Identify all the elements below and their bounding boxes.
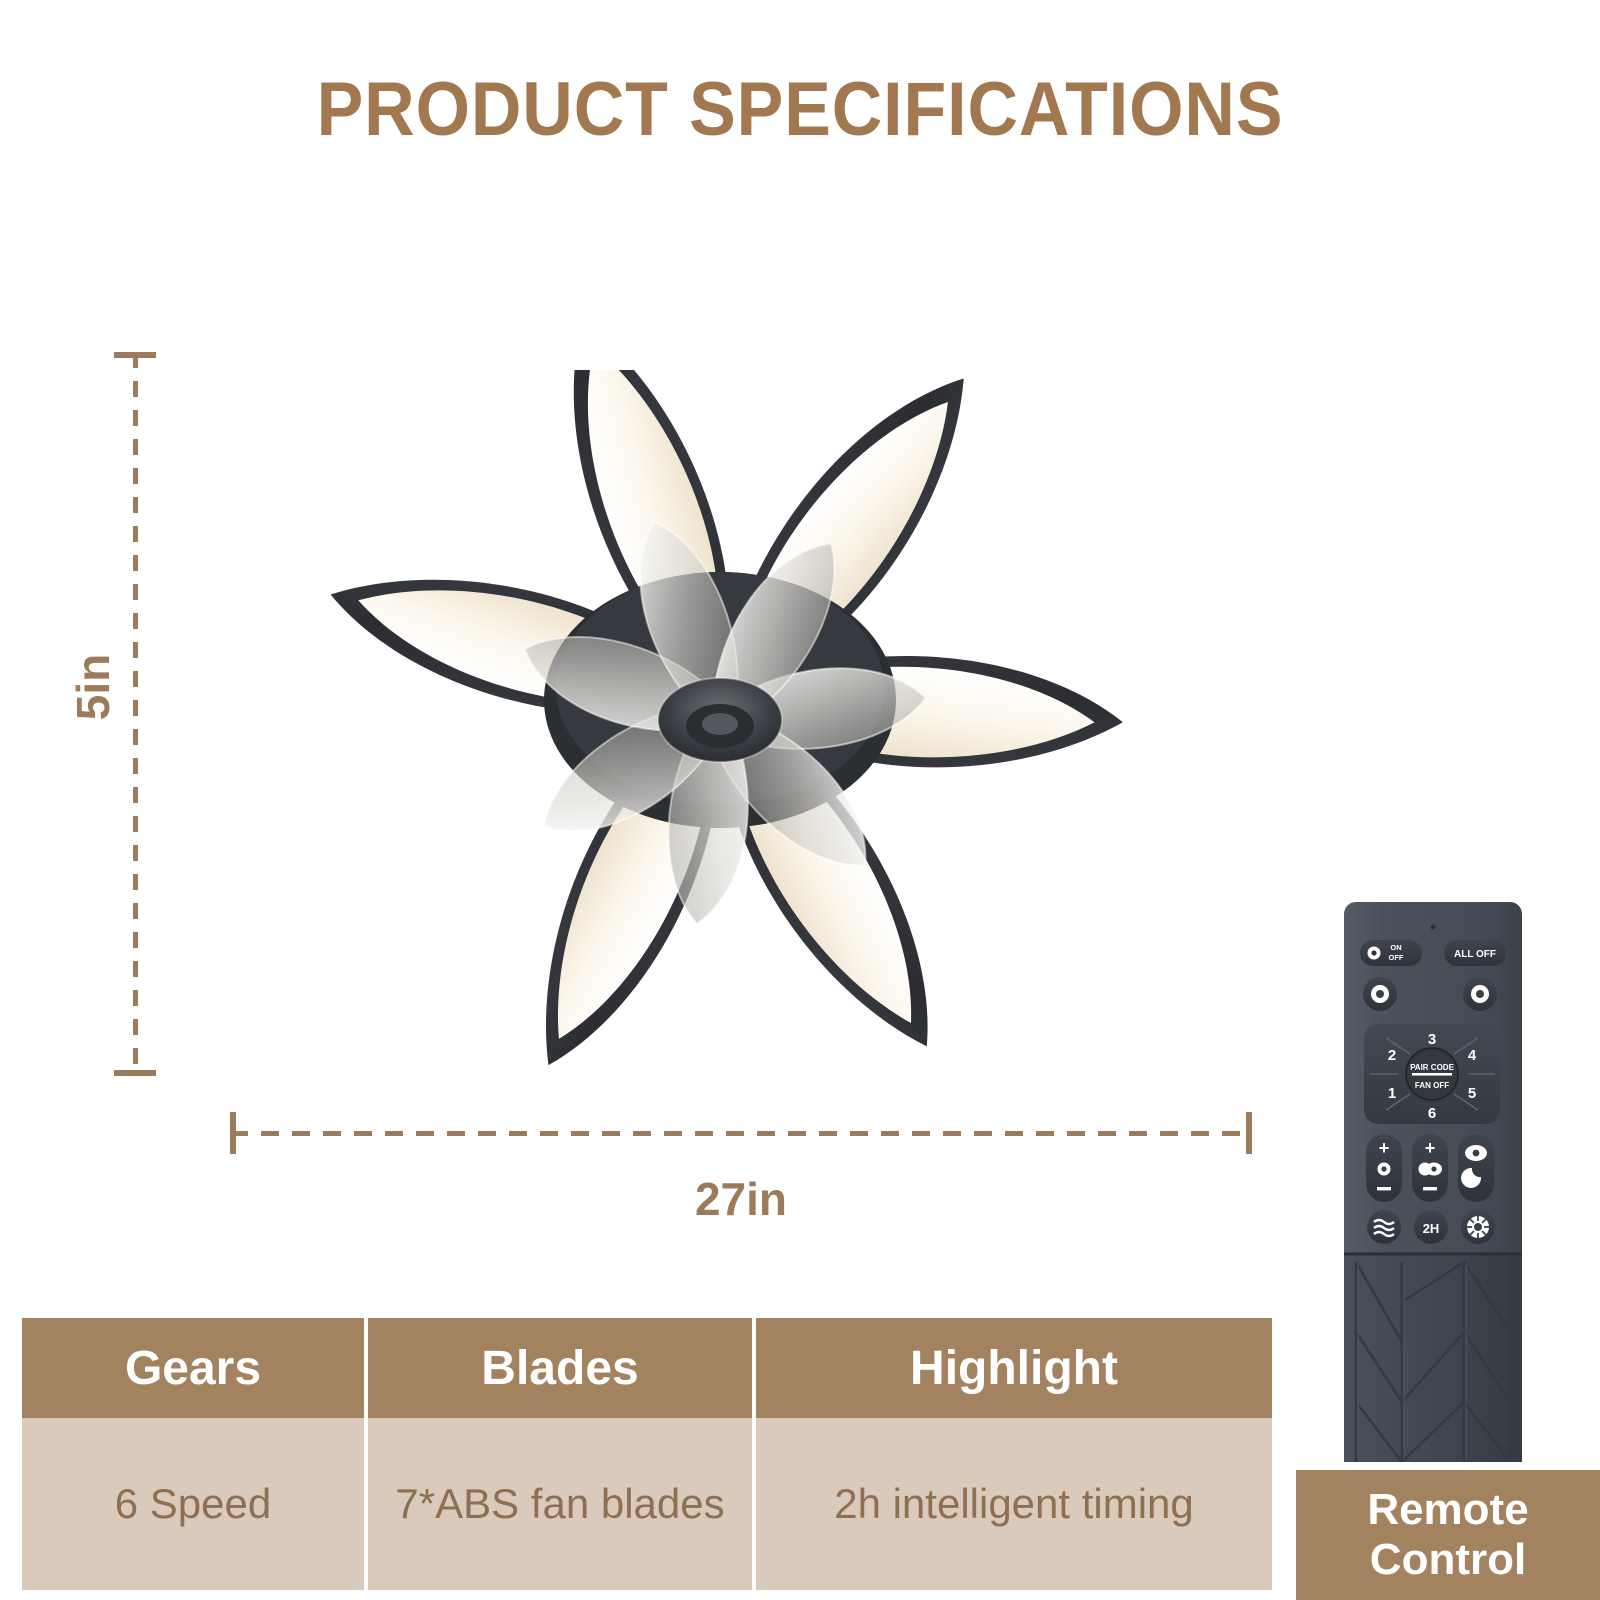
remote-color-temp-control: + bbox=[1412, 1134, 1448, 1202]
spec-header-gears: Gears bbox=[22, 1318, 364, 1418]
svg-text:4: 4 bbox=[1468, 1047, 1477, 1064]
product-spec-page: PRODUCT SPECIFICATIONS bbox=[0, 0, 1600, 1600]
remote-day-night-control bbox=[1458, 1134, 1494, 1202]
remote-button-timer-2h: 2H bbox=[1414, 1210, 1448, 1244]
height-dim-cap-bottom bbox=[114, 1070, 156, 1076]
remote-button-on-off: ON OFF bbox=[1360, 940, 1422, 966]
specification-table: Gears 6 Speed Blades 7*ABS fan blades Hi… bbox=[22, 1318, 1272, 1590]
svg-text:1: 1 bbox=[1388, 1085, 1396, 1102]
spec-value-highlight: 2h intelligent timing bbox=[756, 1418, 1272, 1590]
width-dim-shaft bbox=[230, 1131, 1252, 1136]
remote-control-caption: Remote Control bbox=[1296, 1470, 1600, 1600]
svg-text:ALL OFF: ALL OFF bbox=[1454, 949, 1496, 960]
height-dimension-label: 5in bbox=[66, 654, 120, 720]
page-title: PRODUCT SPECIFICATIONS bbox=[64, 66, 1536, 153]
spec-header-highlight: Highlight bbox=[756, 1318, 1272, 1418]
svg-text:6: 6 bbox=[1428, 1105, 1436, 1122]
svg-text:2H: 2H bbox=[1423, 1221, 1440, 1236]
remote-button-breeze bbox=[1367, 1210, 1401, 1244]
remote-button-all-off: ALL OFF bbox=[1444, 940, 1506, 966]
svg-text:5: 5 bbox=[1468, 1085, 1476, 1102]
remote-button-fan-mode bbox=[1461, 1210, 1495, 1244]
width-dimension-line bbox=[230, 1130, 1252, 1138]
remote-brightness-control: + bbox=[1366, 1134, 1402, 1202]
svg-text:3: 3 bbox=[1428, 1031, 1436, 1048]
width-dimension-label: 27in bbox=[0, 1172, 1482, 1226]
remote-speed-pad: 3 2 4 1 5 6 PAIR CODE FAN OFF bbox=[1364, 1024, 1500, 1124]
svg-text:PAIR CODE: PAIR CODE bbox=[1410, 1063, 1455, 1072]
ceiling-fan-illustration bbox=[140, 370, 1300, 1070]
fan-hub bbox=[658, 678, 782, 762]
svg-text:OFF: OFF bbox=[1389, 953, 1404, 962]
spec-column-gears: Gears 6 Speed bbox=[22, 1318, 364, 1590]
spec-header-blades: Blades bbox=[368, 1318, 752, 1418]
ir-led-dot bbox=[1431, 925, 1436, 930]
spec-value-blades: 7*ABS fan blades bbox=[368, 1418, 752, 1590]
svg-text:ON: ON bbox=[1390, 943, 1401, 952]
spec-value-gears: 6 Speed bbox=[22, 1418, 364, 1590]
height-dim-shaft bbox=[133, 352, 138, 1076]
svg-text:+: + bbox=[1379, 1138, 1390, 1158]
spec-column-highlight: Highlight 2h intelligent timing bbox=[756, 1318, 1272, 1590]
spec-column-blades: Blades 7*ABS fan blades bbox=[368, 1318, 752, 1590]
remote-grip-texture bbox=[1344, 1252, 1522, 1462]
height-dimension-line bbox=[132, 352, 140, 1076]
width-dim-cap-right bbox=[1246, 1112, 1252, 1154]
svg-text:+: + bbox=[1425, 1138, 1436, 1158]
remote-control-image: ON OFF ALL OFF bbox=[1340, 902, 1526, 1462]
svg-text:FAN OFF: FAN OFF bbox=[1415, 1081, 1449, 1090]
remote-button-light-right bbox=[1463, 977, 1497, 1011]
svg-text:2: 2 bbox=[1388, 1047, 1396, 1064]
remote-button-light-left bbox=[1363, 977, 1397, 1011]
